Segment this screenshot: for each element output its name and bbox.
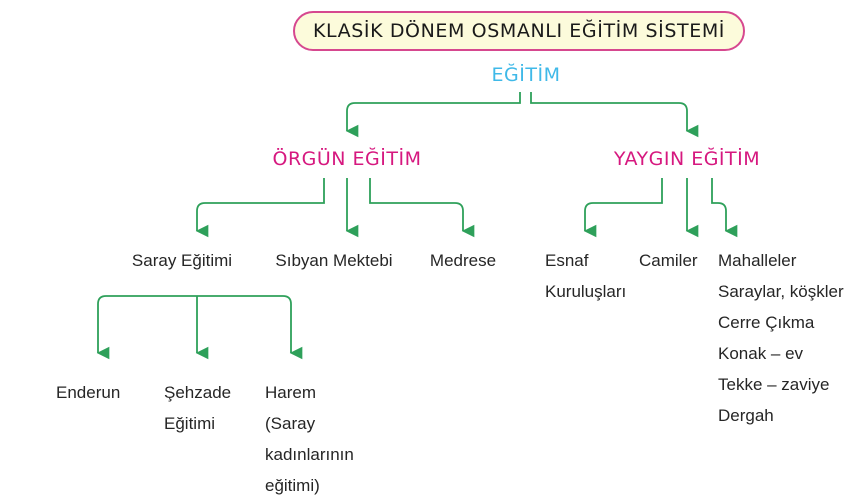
node-yaygin-egitim: YAYGIN EĞİTİM [614,148,760,170]
node-enderun-line-1: Enderun [56,377,120,408]
node-orgun-egitim: ÖRGÜN EĞİTİM [273,148,422,170]
node-sehzade-egitimi: Şehzade Eğitimi [164,377,231,439]
node-mahalleler-line-6: Dergah [718,400,844,431]
diagram-title-box: KLASİK DÖNEM OSMANLI EĞİTİM SİSTEMİ [293,11,745,51]
page-title: KLASİK DÖNEM OSMANLI EĞİTİM SİSTEMİ [313,20,725,42]
node-mahalleler-line-3: Cerre Çıkma [718,307,844,338]
node-esnaf-kuruluslari-line-1: Esnaf [545,245,626,276]
node-sibyan-mektebi: Sıbyan Mektebi [275,245,392,276]
node-camiler-line-1: Camiler [639,245,698,276]
node-harem: Harem (Saray kadınlarının eğitimi) [265,377,354,498]
node-enderun: Enderun [56,377,120,408]
node-mahalleler-line-5: Tekke – zaviye [718,369,844,400]
node-medrese: Medrese [430,245,496,276]
node-harem-line-3: kadınlarının [265,439,354,470]
edge-orgun-to-saray [197,178,324,231]
edge-yaygin-to-mahalleler [712,178,726,231]
edge-root-to-yaygin [531,92,687,131]
edge-yaygin-to-esnaf [585,178,662,231]
edge-saray-to-enderun [98,296,197,353]
edge-saray-to-harem [197,296,291,353]
node-sehzade-egitimi-line-2: Eğitimi [164,408,231,439]
edge-orgun-to-medrese [370,178,463,231]
node-mahalleler-line-2: Saraylar, köşkler [718,276,844,307]
edge-root-to-orgun [347,92,520,131]
node-harem-line-4: eğitimi) [265,470,354,498]
node-esnaf-kuruluslari: Esnaf Kuruluşları [545,245,626,307]
node-saray-egitimi: Saray Eğitimi [132,245,232,276]
diagram-canvas: KLASİK DÖNEM OSMANLI EĞİTİM SİSTEMİ EĞİT… [0,0,867,498]
node-mahalleler-list: Mahalleler Saraylar, köşkler Cerre Çıkma… [718,245,844,431]
node-root-egitim: EĞİTİM [492,64,561,86]
node-harem-line-2: (Saray [265,408,354,439]
node-sehzade-egitimi-line-1: Şehzade [164,377,231,408]
node-harem-line-1: Harem [265,377,354,408]
node-mahalleler-line-1: Mahalleler [718,245,844,276]
node-camiler: Camiler [639,245,698,276]
node-esnaf-kuruluslari-line-2: Kuruluşları [545,276,626,307]
node-mahalleler-line-4: Konak – ev [718,338,844,369]
